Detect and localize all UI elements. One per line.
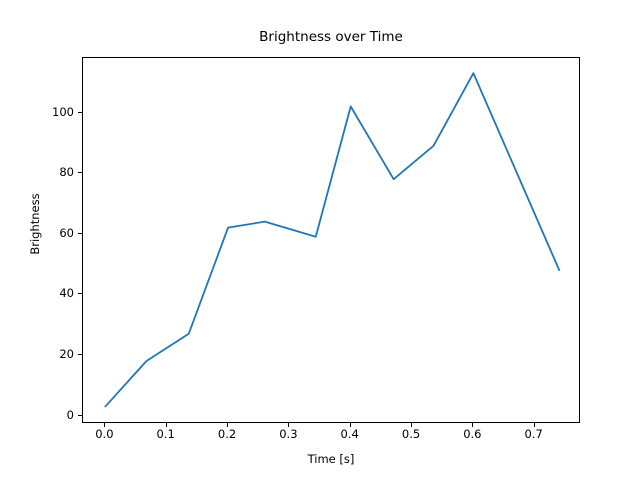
x-tick-mark [227,423,228,427]
x-tick-label: 0.2 [218,427,236,441]
plot-axes-area [82,57,580,423]
x-tick-label: 0.6 [463,427,481,441]
y-tick-label: 100 [52,105,74,119]
line-series-svg [83,58,581,424]
y-tick-mark [78,233,82,234]
brightness-line-series [105,73,559,406]
x-tick-label: 0.3 [279,427,297,441]
x-tick-mark [104,423,105,427]
x-tick-label: 0.1 [157,427,175,441]
y-tick-mark [78,172,82,173]
y-tick-mark [78,415,82,416]
x-tick-mark [472,423,473,427]
x-tick-mark [166,423,167,427]
x-tick-label-group: 0.00.10.20.30.40.50.60.7 [0,427,640,443]
y-tick-label: 40 [59,286,74,300]
y-tick-label: 0 [67,408,74,422]
x-tick-label: 0.0 [95,427,113,441]
x-tick-mark [534,423,535,427]
y-tick-mark [78,293,82,294]
x-tick-label: 0.4 [341,427,359,441]
figure-canvas: Brightness over Time Brightness 02040608… [0,0,640,480]
x-axis-label: Time [s] [82,452,580,466]
x-tick-mark [411,423,412,427]
y-tick-label: 20 [59,347,74,361]
y-tick-label-group: 020406080100 [0,57,74,423]
x-tick-mark [288,423,289,427]
y-tick-label: 60 [59,226,74,240]
chart-title: Brightness over Time [82,28,580,46]
y-tick-mark [78,354,82,355]
y-tick-label: 80 [59,165,74,179]
x-tick-label: 0.5 [402,427,420,441]
y-tick-mark [78,112,82,113]
x-tick-mark [350,423,351,427]
x-tick-label: 0.7 [525,427,543,441]
